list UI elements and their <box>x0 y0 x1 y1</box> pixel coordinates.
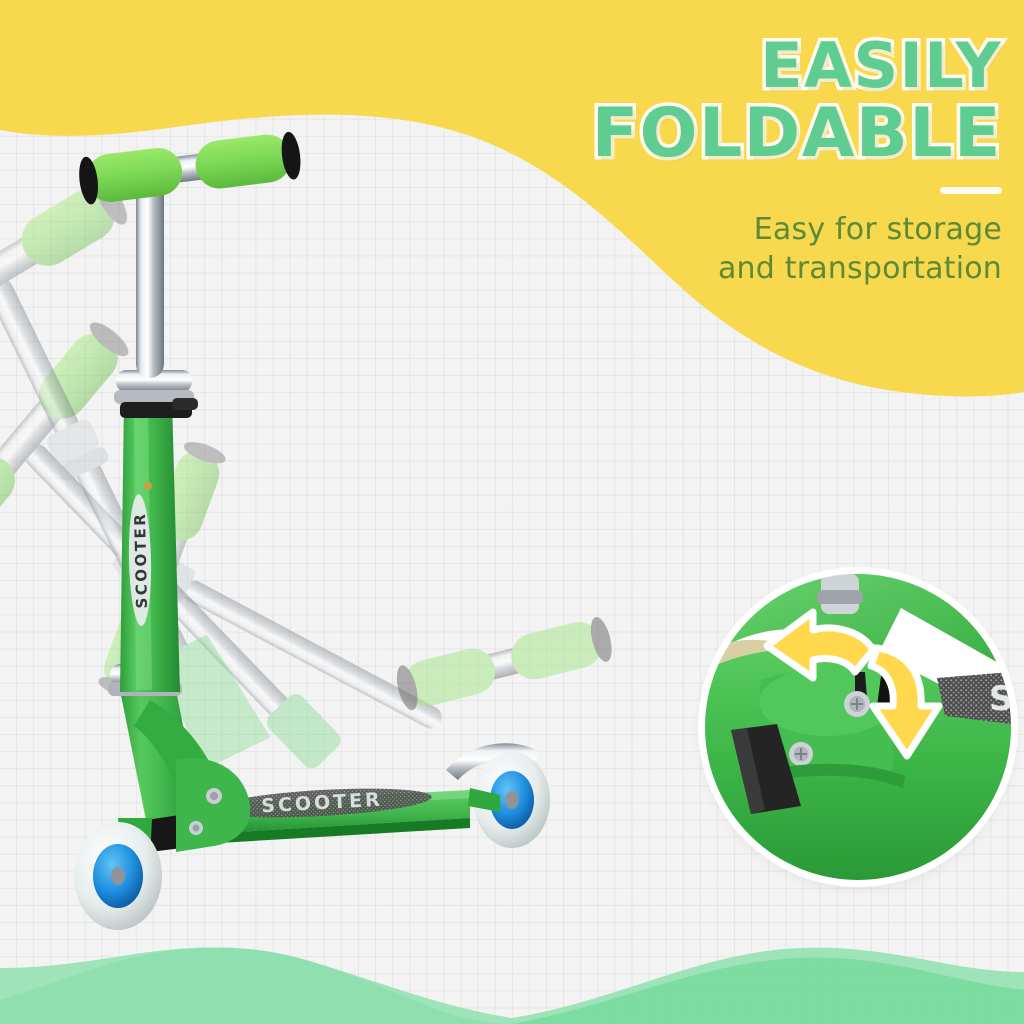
bottom-waves <box>0 0 1024 1024</box>
banner-canvas: SCOOTER <box>0 0 1024 1024</box>
